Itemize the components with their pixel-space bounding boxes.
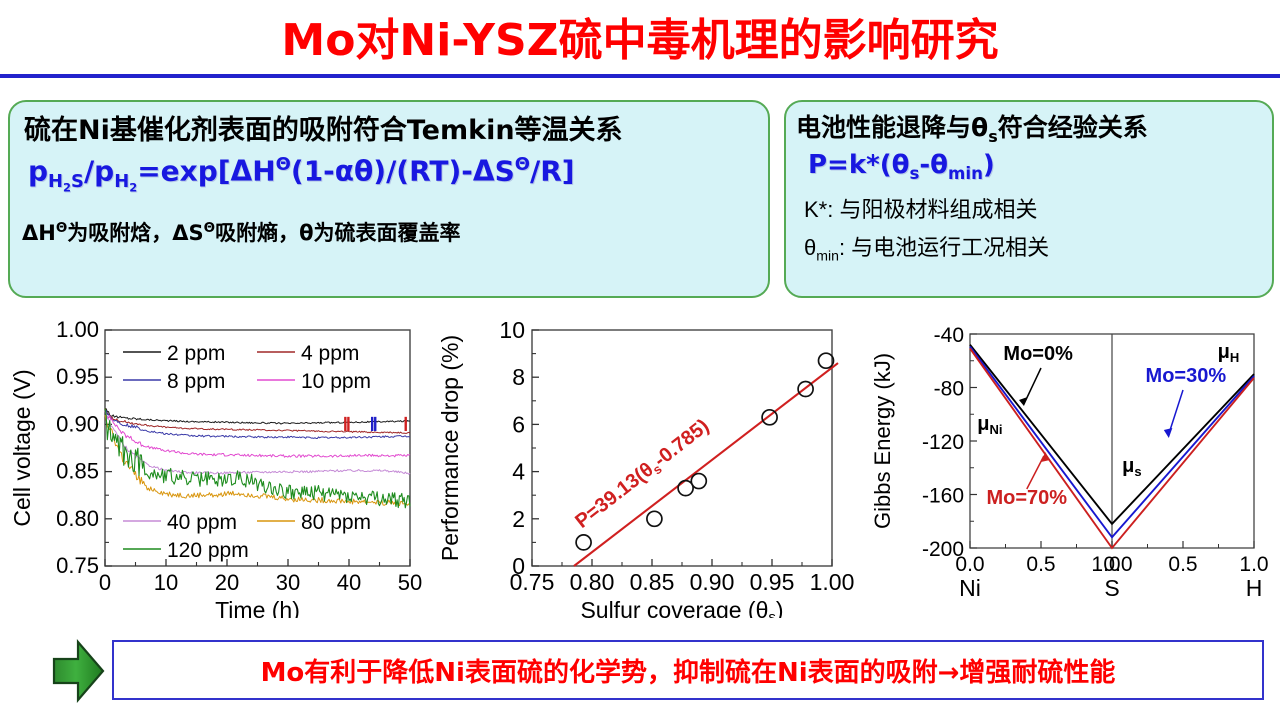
chart3-category-label: H <box>1246 575 1263 601</box>
chart1-svg: 0.750.800.850.900.951.00010203040502 ppm… <box>0 318 430 618</box>
chart-cell-voltage-vs-time: 0.750.800.850.900.951.00010203040502 ppm… <box>0 318 430 618</box>
chart2-y-tick-label: 10 <box>499 318 525 343</box>
chart3-y-tick-label: -120 <box>922 431 964 454</box>
empirical-equation: P=k*(θs-θmin) <box>808 150 995 183</box>
chart1-y-tick-label: 0.80 <box>56 506 99 531</box>
chart3-label-mo30: Mo=30% <box>1146 365 1227 387</box>
chart1-y-tick-label: 0.85 <box>56 459 99 484</box>
page-title: Mo对Ni-YSZ硫中毒机理的影响研究 <box>281 4 998 68</box>
chart-performance-drop-vs-coverage: 02468100.750.800.850.900.951.00P=39.13(θ… <box>432 318 862 618</box>
chart1-x-tick-label: 10 <box>154 570 178 595</box>
chart2-y-tick-label: 2 <box>512 506 525 532</box>
empirical-heading: 电池性能退降与θs符合经验关系 <box>796 108 1148 146</box>
chart3-y-axis-title: Gibbs Energy (kJ) <box>870 353 895 529</box>
chart2-svg: 02468100.750.800.850.900.951.00P=39.13(θ… <box>432 318 862 618</box>
chart3-y-tick-label: -40 <box>934 324 964 347</box>
temkin-heading: 硫在Ni基催化剂表面的吸附符合Temkin等温关系 <box>24 108 623 147</box>
chart2-x-axis-title: Sulfur coverage (θs) <box>580 597 783 618</box>
chart2-x-tick-label: 1.00 <box>810 569 855 595</box>
chart1-legend-label: 80 ppm <box>301 511 371 534</box>
chart1-x-tick-label: 50 <box>398 570 422 595</box>
chart3-label-mo0: Mo=0% <box>1003 343 1073 365</box>
chart2-x-tick-label: 0.75 <box>510 569 555 595</box>
conclusion-banner: Mo有利于降低Ni表面硫的化学势，抑制硫在Ni表面的吸附→增强耐硫性能 <box>112 640 1264 700</box>
chart2-x-tick-label: 0.95 <box>750 569 795 595</box>
chart1-x-tick-label: 0 <box>99 570 111 595</box>
green-arrow-icon <box>48 638 106 704</box>
chart3-category-label: Ni <box>959 575 981 601</box>
chart3-x-tick-label: 0.0 <box>1103 553 1132 576</box>
chart1-y-tick-label: 1.00 <box>56 318 99 342</box>
conclusion-text: Mo有利于降低Ni表面硫的化学势，抑制硫在Ni表面的吸附→增强耐硫性能 <box>261 652 1116 689</box>
chart3-label-mo70: Mo=70% <box>987 487 1068 509</box>
chart3-y-tick-label: -80 <box>934 378 964 401</box>
chart1-legend-label: 2 ppm <box>167 342 225 365</box>
chart3-category-label: S <box>1104 575 1119 601</box>
chart3-x-tick-label: 0.5 <box>1026 553 1055 576</box>
chart2-y-tick-label: 8 <box>512 364 525 390</box>
empirical-note-theta: θmin: 与电池运行工况相关 <box>804 230 1049 263</box>
chart2-y-axis-title: Performance drop (%) <box>437 335 463 561</box>
chart2-x-tick-label: 0.80 <box>570 569 615 595</box>
temkin-equation: pH2S/pH2=exp[ΔHΘ(1-αθ)/(RT)-ΔSΘ/R] <box>28 154 575 195</box>
chart1-y-tick-label: 0.75 <box>56 553 99 578</box>
chart2-y-tick-label: 4 <box>512 459 525 485</box>
chart3-x-tick-label: 0.5 <box>1168 553 1197 576</box>
chart3-x-tick-label: 1.0 <box>1239 553 1268 576</box>
chart1-legend-label: 8 ppm <box>167 370 225 393</box>
chart1-legend-label: 120 ppm <box>167 539 249 562</box>
title-divider <box>0 74 1280 78</box>
temkin-note: ΔHΘ为吸附焓，ΔSΘ吸附熵，θ为硫表面覆盖率 <box>22 217 461 247</box>
chart1-y-axis-title: Cell voltage (V) <box>9 369 35 526</box>
chart3-svg: -200-160-120-80-400.00.51.00.00.51.0NiSH… <box>864 318 1280 618</box>
chart1-x-tick-label: 30 <box>276 570 300 595</box>
chart1-legend-label: 40 ppm <box>167 511 237 534</box>
chart-gibbs-energy: -200-160-120-80-400.00.51.00.00.51.0NiSH… <box>864 318 1280 618</box>
chart1-x-tick-label: 40 <box>337 570 361 595</box>
title-bar: Mo对Ni-YSZ硫中毒机理的影响研究 <box>0 4 1280 68</box>
chart1-legend-label: 4 ppm <box>301 342 359 365</box>
chart3-y-tick-label: -160 <box>922 485 964 508</box>
chart1-x-tick-label: 20 <box>215 570 239 595</box>
chart3-x-tick-label: 0.0 <box>955 553 984 576</box>
empirical-note-k: K*: 与阳极材料组成相关 <box>804 192 1037 224</box>
chart1-y-tick-label: 0.95 <box>56 364 99 389</box>
chart1-legend-label: 10 ppm <box>301 370 371 393</box>
info-box-empirical: 电池性能退降与θs符合经验关系 P=k*(θs-θmin) K*: 与阳极材料组… <box>784 100 1274 298</box>
chart2-x-tick-label: 0.90 <box>690 569 735 595</box>
chart1-y-tick-label: 0.90 <box>56 411 99 436</box>
chart1-x-axis-title: Time (h) <box>215 597 300 618</box>
info-box-temkin: 硫在Ni基催化剂表面的吸附符合Temkin等温关系 pH2S/pH2=exp[Δ… <box>8 100 770 298</box>
chart2-y-tick-label: 6 <box>512 411 525 437</box>
chart2-x-tick-label: 0.85 <box>630 569 675 595</box>
